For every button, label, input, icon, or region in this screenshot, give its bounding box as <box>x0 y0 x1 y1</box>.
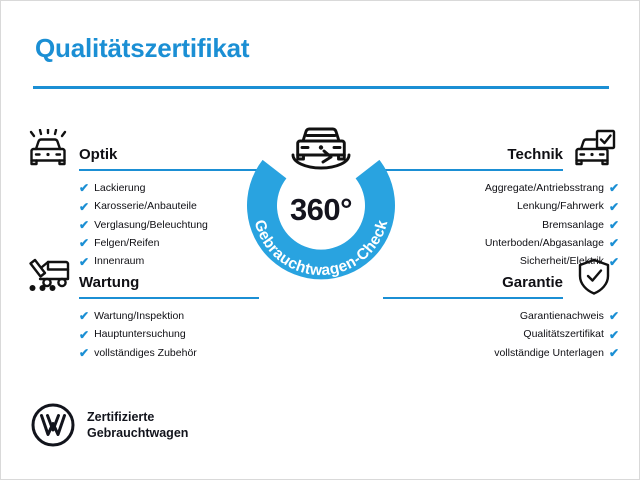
list-item: ✔Hauptuntersuchung <box>79 325 259 343</box>
shield-check-icon <box>571 257 617 297</box>
check-icon: ✔ <box>79 201 89 213</box>
check-icon: ✔ <box>79 329 89 341</box>
list-item-label: Felgen/Reifen <box>94 238 159 249</box>
section-technik-header: Technik <box>383 129 619 171</box>
list-item-label: Karosserie/Anbauteile <box>94 201 197 212</box>
list-item: Aggregate/Antriebsstrang✔ <box>383 179 619 197</box>
section-technik-title: Technik <box>507 146 563 163</box>
check-icon: ✔ <box>79 347 89 359</box>
check-icon: ✔ <box>609 182 619 194</box>
list-item: Qualitätszertifikat✔ <box>383 325 619 343</box>
list-item: ✔Wartung/Inspektion <box>79 307 259 325</box>
section-garantie-header: Garantie <box>383 257 619 299</box>
section-wartung-header: Wartung <box>23 257 259 299</box>
list-item: Bremsanlage✔ <box>383 216 619 234</box>
car-checkbox-icon <box>571 129 617 169</box>
check-icon: ✔ <box>609 201 619 213</box>
optik-checklist: ✔Lackierung ✔Karosserie/Anbauteile ✔Verg… <box>23 171 259 271</box>
footer-line-1: Zertifizierte <box>87 409 188 425</box>
wartung-checklist: ✔Wartung/Inspektion ✔Hauptuntersuchung ✔… <box>23 299 259 362</box>
badge-360-gebrauchtwagen-check: Gebrauchtwagen-Check 360° <box>229 115 413 299</box>
list-item-label: vollständiges Zubehör <box>94 348 197 359</box>
list-item-label: Unterboden/Abgasanlage <box>485 238 604 249</box>
list-item: Unterboden/Abgasanlage✔ <box>383 234 619 252</box>
section-wartung: Wartung ✔Wartung/Inspektion ✔Hauptunters… <box>23 257 259 362</box>
list-item-label: Garantienachweis <box>520 311 604 322</box>
section-optik-header: Optik <box>23 129 259 171</box>
check-icon: ✔ <box>609 347 619 359</box>
list-item: Lenkung/Fahrwerk✔ <box>383 197 619 215</box>
car-shine-icon <box>25 129 71 169</box>
footer-brand: Zertifizierte Gebrauchtwagen <box>31 403 188 447</box>
footer-line-2: Gebrauchtwagen <box>87 425 188 441</box>
list-item: Garantienachweis✔ <box>383 307 619 325</box>
car-rotation-icon <box>293 129 349 168</box>
list-item: ✔vollständiges Zubehör <box>79 344 259 362</box>
section-garantie: Garantie Garantienachweis✔ Qualitätszert… <box>383 257 619 362</box>
garantie-checklist: Garantienachweis✔ Qualitätszertifikat✔ v… <box>383 299 619 362</box>
section-wartung-title: Wartung <box>79 274 139 291</box>
section-technik: Technik Aggregate/Antriebsstrang✔ Lenkun… <box>383 129 619 271</box>
check-icon: ✔ <box>609 237 619 249</box>
wrench-van-icon <box>25 257 71 297</box>
section-garantie-title: Garantie <box>502 274 563 291</box>
list-item: vollständige Unterlagen✔ <box>383 344 619 362</box>
check-icon: ✔ <box>79 310 89 322</box>
footer-text: Zertifizierte Gebrauchtwagen <box>87 409 188 441</box>
check-icon: ✔ <box>609 329 619 341</box>
check-icon: ✔ <box>79 219 89 231</box>
check-icon: ✔ <box>79 237 89 249</box>
check-icon: ✔ <box>79 182 89 194</box>
list-item-label: Bremsanlage <box>542 220 604 231</box>
list-item-label: vollständige Unterlagen <box>494 348 604 359</box>
list-item-label: Verglasung/Beleuchtung <box>94 220 208 231</box>
list-item-label: Hauptuntersuchung <box>94 329 186 340</box>
list-item-label: Lenkung/Fahrwerk <box>517 201 604 212</box>
check-icon: ✔ <box>609 219 619 231</box>
list-item-label: Wartung/Inspektion <box>94 311 184 322</box>
list-item-label: Qualitätszertifikat <box>523 329 604 340</box>
certificate-page: Qualitätszertifikat <box>0 0 640 480</box>
page-title: Qualitätszertifikat <box>35 33 249 64</box>
vw-logo <box>31 403 75 447</box>
check-icon: ✔ <box>609 310 619 322</box>
technik-checklist: Aggregate/Antriebsstrang✔ Lenkung/Fahrwe… <box>383 171 619 271</box>
section-optik-title: Optik <box>79 146 117 163</box>
list-item-label: Lackierung <box>94 183 145 194</box>
list-item-label: Aggregate/Antriebsstrang <box>485 183 604 194</box>
title-divider <box>33 86 609 89</box>
badge-degrees: 360° <box>229 192 413 228</box>
section-optik: Optik ✔Lackierung ✔Karosserie/Anbauteile… <box>23 129 259 271</box>
